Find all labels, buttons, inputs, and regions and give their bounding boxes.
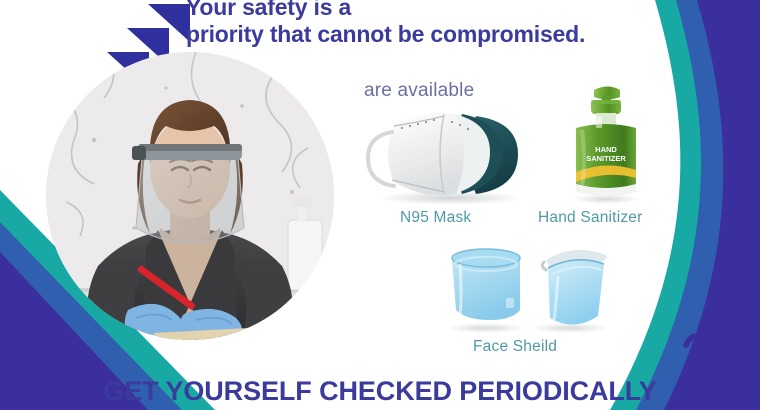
- product-label-n95-mask: N95 Mask: [400, 209, 471, 227]
- hand-sanitizer-image: HAND SANITIZER: [558, 80, 654, 205]
- headline: Your safety is a priority that cannot be…: [186, 0, 686, 48]
- subhead-are-available: are available: [364, 80, 474, 102]
- product-label-face-shield: Face Sheild: [473, 338, 557, 356]
- bottom-call-to-action: GET YOURSELF CHECKED PERIODICALLY: [0, 376, 760, 407]
- headline-line-2: priority that cannot be compromised.: [186, 21, 686, 48]
- face-shield-right: [542, 250, 608, 325]
- sanitizer-label-line-2: SANITIZER: [586, 154, 626, 163]
- headline-line-1: Your safety is a: [186, 0, 686, 21]
- face-shield-left: [452, 249, 520, 320]
- face-shield-worn: [132, 144, 244, 243]
- hero-photo: [46, 52, 334, 340]
- right-curved-swooshes: [610, 0, 760, 410]
- poster-canvas: Your safety is a priority that cannot be…: [0, 0, 760, 410]
- face-shield-image: [438, 238, 618, 338]
- n95-mask-image: [358, 100, 538, 205]
- product-label-hand-sanitizer: Hand Sanitizer: [538, 209, 642, 227]
- sanitizer-label-line-1: HAND: [595, 145, 617, 154]
- squiggle-decoration: [686, 307, 760, 345]
- hero-photo-illustration: [46, 52, 334, 340]
